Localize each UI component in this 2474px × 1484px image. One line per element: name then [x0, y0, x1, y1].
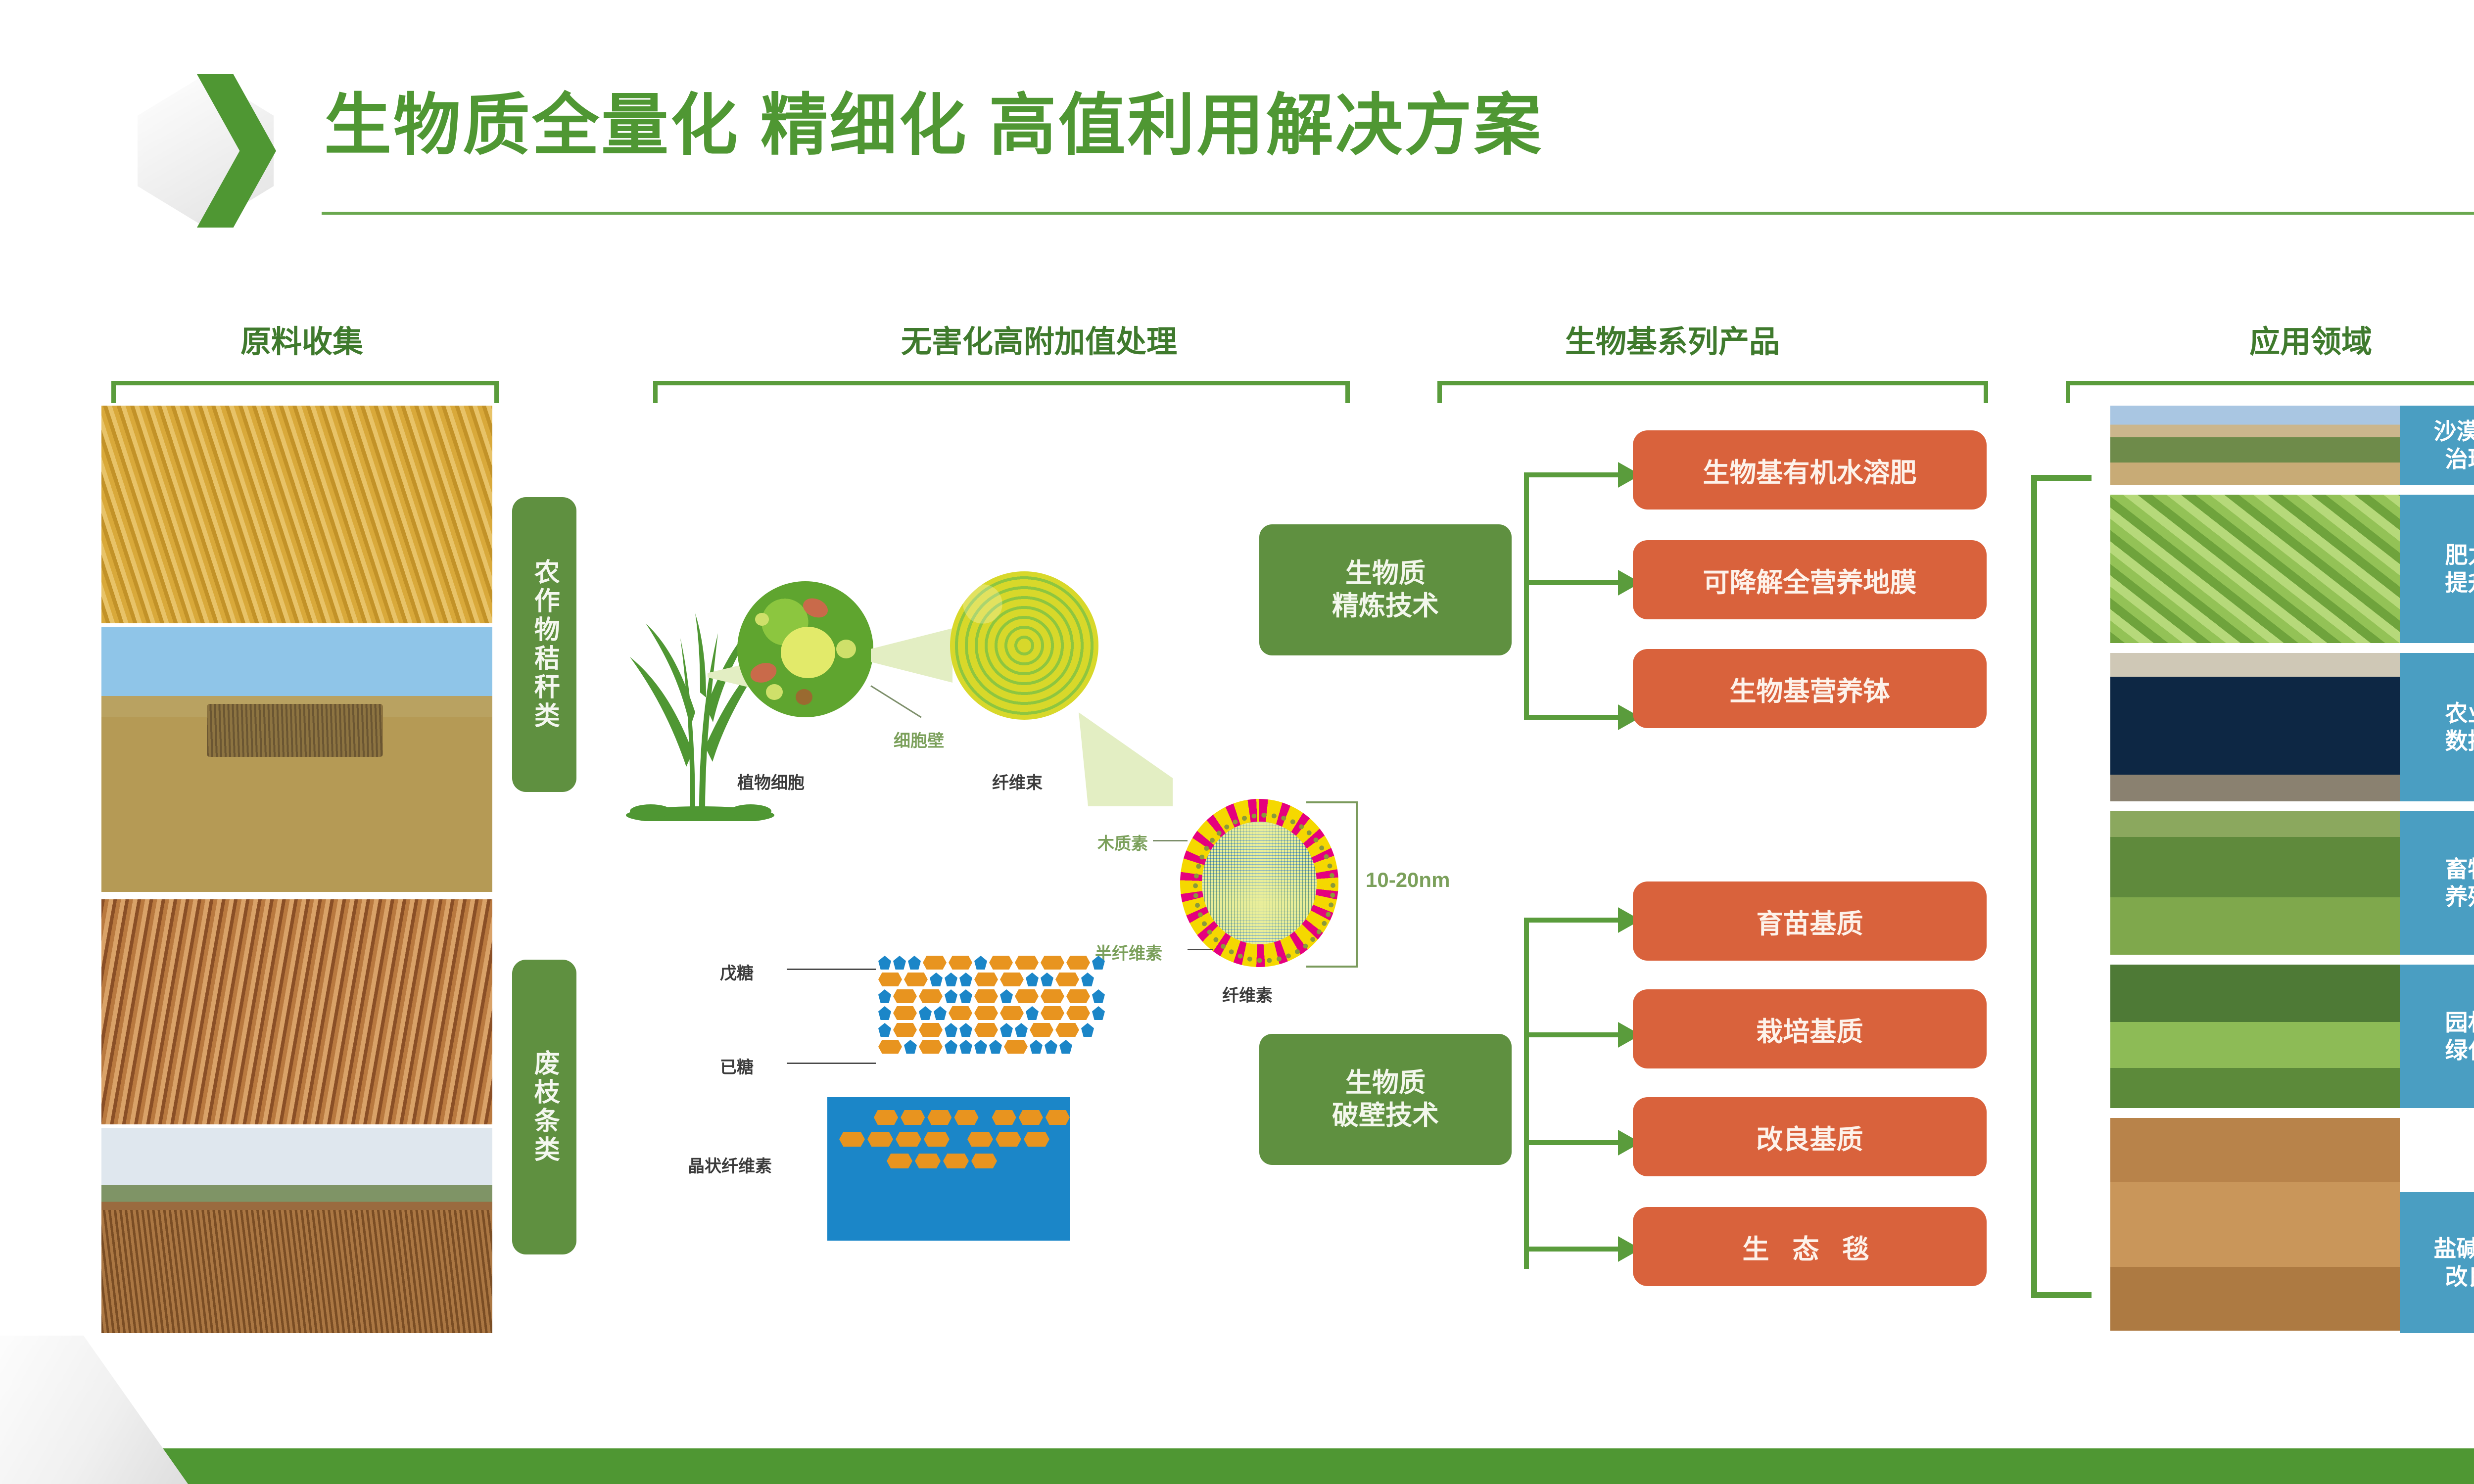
application-tab-fertility[interactable]: 肥力 提升	[2400, 495, 2474, 643]
technology-box-wall-breaking[interactable]: 生物质 破壁技术	[1259, 1034, 1512, 1165]
zoom-beam-fiber-to-crosssection	[1079, 712, 1173, 806]
connector-branch-wb-2	[1524, 1032, 1620, 1037]
title-underline-divider	[322, 212, 2474, 215]
label-cellulose: 纤维素	[1222, 982, 1273, 1006]
feedstock-category-label: 农作物秸秆类	[531, 558, 558, 731]
application-photo-saline-land	[2110, 1118, 2400, 1331]
crystalline-cellulose-diagram	[827, 1097, 1070, 1241]
feedstock-photo-branches	[101, 899, 492, 1124]
application-label-line1: 盐碱地	[2434, 1235, 2474, 1262]
application-label-line2: 养殖	[2445, 883, 2474, 911]
application-tab-livestock[interactable]: 畜牧 养殖	[2400, 811, 2474, 955]
connector-branch-refining-3	[1524, 715, 1620, 720]
label-hemicellulose: 半纤维素	[1095, 940, 1162, 964]
application-photo-livestock	[2110, 811, 2400, 955]
label-plant-cell: 植物细胞	[737, 769, 805, 793]
technology-label-line2: 精炼技术	[1332, 590, 1439, 623]
product-pill-seedling-substrate[interactable]: 育苗基质	[1633, 881, 1987, 961]
label-hexose: 已糖	[720, 1054, 754, 1078]
application-photo-agri-data	[2110, 653, 2400, 801]
plant-cell-illustration	[737, 581, 873, 717]
connector-bracket-applications	[2031, 475, 2092, 1298]
dimension-tick-top	[1306, 801, 1358, 803]
section-header-feedstock: 原料收集	[163, 317, 440, 361]
technology-box-refining[interactable]: 生物质 精炼技术	[1259, 524, 1512, 655]
cell-wall-leader-line	[870, 685, 921, 718]
feedstock-photo-straw-bale	[101, 627, 492, 892]
section-header-products: 生物基系列产品	[1425, 317, 1920, 361]
application-label-line1: 沙漠化	[2434, 417, 2474, 445]
connector-branch-wb-1	[1524, 918, 1620, 923]
technology-label-line2: 破壁技术	[1332, 1100, 1439, 1132]
application-photo-fertility	[2110, 495, 2400, 643]
application-tab-saline-land[interactable]: 盐碱地 改良	[2400, 1192, 2474, 1333]
section-header-applications: 应用领域	[2128, 317, 2474, 361]
section-bracket-products	[1437, 381, 1988, 403]
connector-branch-wb-3	[1524, 1140, 1620, 1145]
sugar-chain-diagram	[878, 956, 1105, 1057]
connector-branch-refining-2	[1524, 580, 1620, 585]
dimension-tick-bottom	[1306, 966, 1358, 968]
lignin-leader-line	[1153, 840, 1188, 841]
feedstock-photo-orchard-prune	[101, 1128, 492, 1333]
feedstock-category-waste-branches[interactable]: 废枝条类	[512, 960, 576, 1254]
connector-branch-wb-4	[1524, 1247, 1620, 1252]
page-title: 生物质全量化 精细化 高值利用解决方案	[324, 92, 1543, 159]
fiber-bundle-illustration	[950, 571, 1098, 720]
feedstock-category-crop-straw[interactable]: 农作物秸秆类	[512, 497, 576, 792]
application-label-line2: 提升	[2445, 569, 2474, 597]
product-label: 生 态 毯	[1742, 1227, 1877, 1266]
product-pill-water-soluble-fertilizer[interactable]: 生物基有机水溶肥	[1633, 430, 1987, 510]
label-pentose: 戊糖	[720, 960, 754, 984]
hemicellulose-leader-line	[1188, 949, 1213, 950]
application-label-line1: 园林	[2445, 1009, 2474, 1036]
connector-trunk-wall-breaking	[1524, 918, 1529, 1269]
product-label: 生物基有机水溶肥	[1703, 451, 1917, 490]
application-photo-landscaping	[2110, 965, 2400, 1108]
product-pill-nutrient-pot[interactable]: 生物基营养钵	[1633, 649, 1987, 728]
footer-green-band	[0, 1448, 2474, 1484]
application-tab-agri-data[interactable]: 农业 数据	[2400, 653, 2474, 801]
connector-branch-refining-1	[1524, 472, 1620, 477]
section-bracket-processing	[653, 381, 1350, 403]
product-pill-ecological-blanket[interactable]: 生 态 毯	[1633, 1207, 1987, 1286]
section-bracket-feedstock	[111, 381, 499, 403]
label-dimension-10-20nm: 10-20nm	[1366, 868, 1450, 892]
feedstock-category-label: 废枝条类	[531, 1050, 558, 1164]
product-label: 可降解全营养地膜	[1703, 560, 1917, 600]
section-header-processing: 无害化高附加值处理	[693, 317, 1385, 361]
footer-decorative-shape	[0, 1336, 188, 1484]
label-lignin: 木质素	[1097, 830, 1148, 854]
product-pill-cultivation-substrate[interactable]: 栽培基质	[1633, 989, 1987, 1068]
product-label: 改良基质	[1757, 1117, 1863, 1157]
section-bracket-applications	[2066, 381, 2474, 403]
label-cell-wall: 细胞壁	[894, 727, 944, 751]
feedstock-photo-corn-stalks	[101, 406, 492, 623]
technology-label-line1: 生物质	[1345, 557, 1426, 590]
pentose-leader-line	[787, 969, 876, 970]
product-label: 栽培基质	[1757, 1010, 1863, 1049]
application-label-line1: 畜牧	[2445, 855, 2474, 883]
connector-trunk-refining	[1524, 472, 1529, 720]
application-label-line2: 治理	[2445, 445, 2474, 473]
application-label-line1: 肥力	[2445, 541, 2474, 569]
application-photo-desertification	[2110, 406, 2400, 485]
hexose-leader-line	[787, 1063, 876, 1064]
dimension-vertical-line	[1356, 801, 1358, 968]
product-pill-biodegradable-mulch-film[interactable]: 可降解全营养地膜	[1633, 540, 1987, 619]
product-label: 育苗基质	[1757, 902, 1863, 941]
zoom-beam-cell-to-fiber	[871, 628, 952, 683]
microfibril-cross-section	[1180, 799, 1338, 967]
application-label-line2: 数据	[2445, 727, 2474, 755]
product-label: 生物基营养钵	[1730, 669, 1890, 708]
application-tab-desertification[interactable]: 沙漠化 治理	[2400, 406, 2474, 485]
label-fiber-bundle: 纤维束	[992, 769, 1043, 793]
application-label-line1: 农业	[2445, 699, 2474, 727]
application-label-line2: 改良	[2445, 1263, 2474, 1291]
application-tab-landscaping[interactable]: 园林 绿化	[2400, 965, 2474, 1108]
application-label-line2: 绿化	[2445, 1036, 2474, 1064]
product-pill-improvement-substrate[interactable]: 改良基质	[1633, 1097, 1987, 1176]
label-crystalline-cellulose: 晶状纤维素	[688, 1153, 772, 1177]
technology-label-line1: 生物质	[1345, 1067, 1426, 1100]
